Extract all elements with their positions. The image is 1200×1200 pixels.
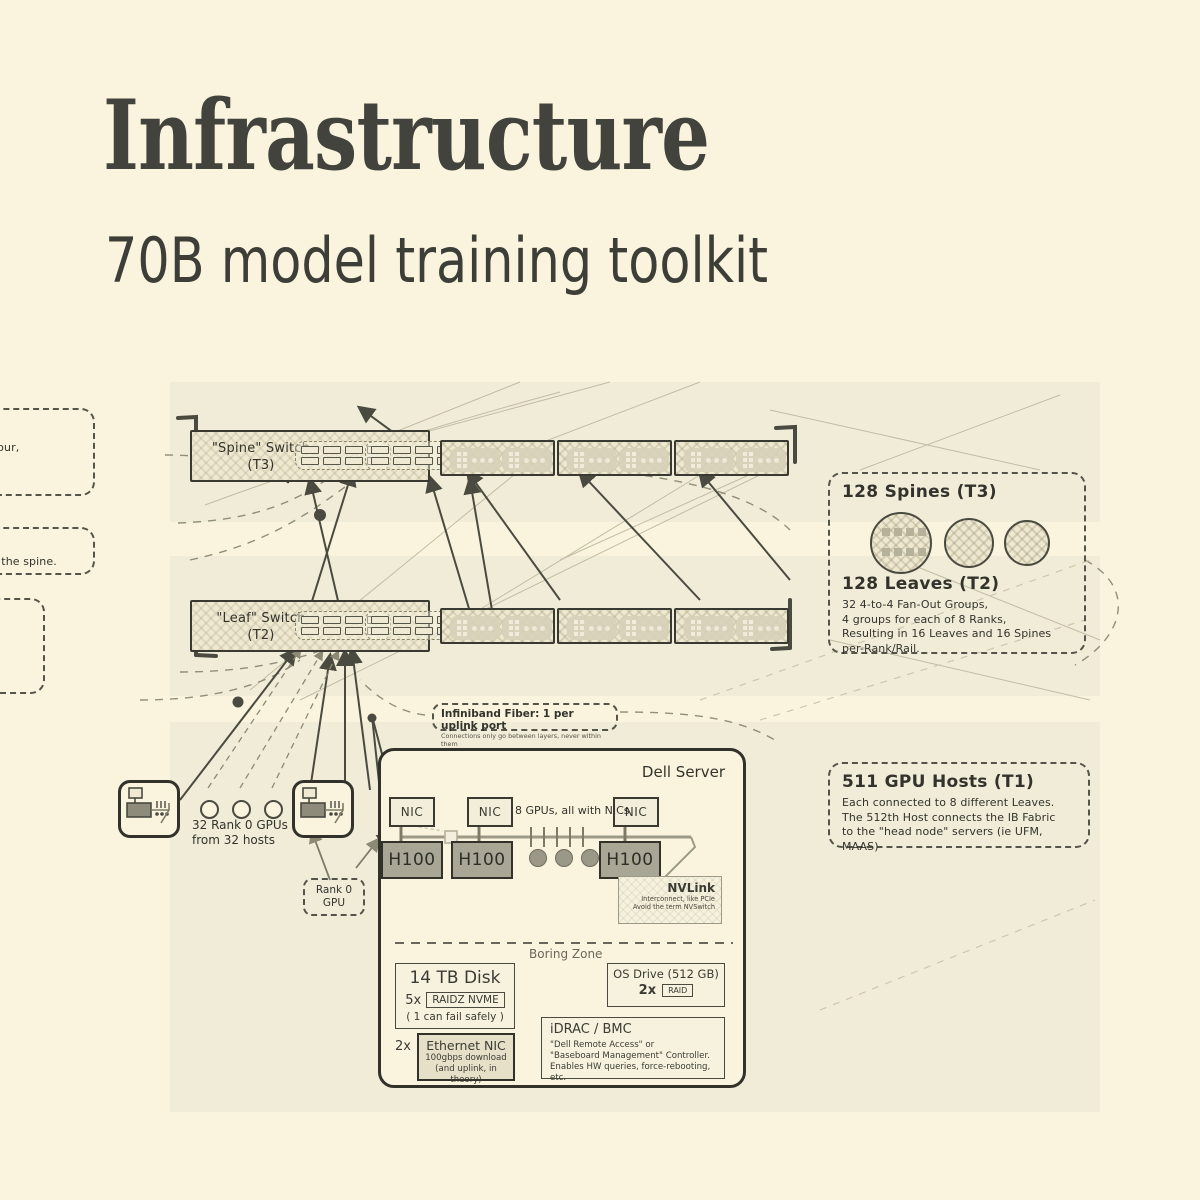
gpu-hosts-title: 511 GPU Hosts (T1)	[842, 772, 1076, 792]
junction-dot	[233, 697, 244, 708]
rank0-gpus-label: 32 Rank 0 GPUs from 32 hosts	[192, 818, 342, 848]
page-subtitle: 70B model training toolkit	[105, 228, 768, 293]
leaf-switch-4[interactable]	[674, 608, 789, 644]
idrac-line1: "Dell Remote Access" or	[550, 1040, 724, 1051]
gpu-placeholder-2	[555, 849, 573, 867]
os-drive-kind: RAID	[662, 984, 693, 997]
spine-switch-2[interactable]	[440, 440, 555, 476]
spine-switch[interactable]: "Spine" Switch (T3)	[190, 430, 430, 482]
rank0-gpu-circle-2	[232, 800, 251, 819]
ethernet-line2: (and uplink, in theory)	[419, 1064, 513, 1086]
nvlink-title: NVLink	[625, 881, 715, 895]
disk-box[interactable]: 14 TB Disk 5x RAIDZ NVME ( 1 can fail sa…	[395, 963, 515, 1029]
eight-gpus-label: 8 GPUs, all with NICs	[515, 803, 645, 818]
disk-title: 14 TB Disk	[396, 968, 514, 988]
note-spines-leaves: 128 Spines (T3) 128 Leaves (T2)	[828, 472, 1086, 654]
os-drive-box[interactable]: OS Drive (512 GB) 2x RAID	[607, 963, 725, 1007]
disk-note: ( 1 can fail safely )	[396, 1011, 514, 1024]
idrac-box[interactable]: iDRAC / BMC "Dell Remote Access" or "Bas…	[541, 1017, 725, 1079]
boring-zone-label: Boring Zone	[529, 947, 602, 961]
gpu-h100-3[interactable]: H100	[599, 841, 661, 879]
idrac-line3: Enables HW queries, force-rebooting, etc…	[550, 1062, 724, 1084]
nic-2[interactable]: NIC	[467, 797, 513, 827]
leaves-title: 128 Leaves (T2)	[842, 574, 1072, 594]
nvlink-line1: Interconnect, like PCIe	[625, 895, 715, 903]
note-clipped-middle: : ports on the spine.	[0, 527, 95, 575]
spine-switch-3[interactable]	[557, 440, 672, 476]
rank0-gpu-circle-1	[200, 800, 219, 819]
gpu-placeholder-3	[581, 849, 599, 867]
ethernet-nic-box[interactable]: Ethernet NIC 100gbps download (and uplin…	[417, 1033, 515, 1081]
spine-circle-medium	[944, 518, 994, 568]
ethernet-line1: 100gbps download	[419, 1053, 513, 1064]
host-icon-left[interactable]	[118, 780, 180, 838]
note-gpu-hosts: 511 GPU Hosts (T1) Each connected to 8 d…	[828, 762, 1090, 848]
disk-count: 5x	[405, 993, 421, 1008]
gpu-placeholder-1	[529, 849, 547, 867]
gpu-h100-1[interactable]: H100	[381, 841, 443, 879]
diagram-canvas: Infrastructure 70B model training toolki…	[0, 0, 1200, 1200]
leaf-switch-2[interactable]	[440, 608, 555, 644]
note-clipped-bottom: , T3)	[0, 598, 45, 694]
nvlink-box[interactable]: NVLink Interconnect, like PCIe Avoid the…	[618, 876, 722, 924]
page-title: Infrastructure	[103, 86, 709, 187]
spines-title: 128 Spines (T3)	[842, 482, 1072, 502]
host-glyph-icon	[121, 783, 177, 835]
spine-switch-4[interactable]	[674, 440, 789, 476]
ethernet-title: Ethernet NIC	[419, 1038, 513, 1053]
idrac-title: iDRAC / BMC	[550, 1022, 724, 1037]
gpu-h100-2[interactable]: H100	[451, 841, 513, 879]
nic-1[interactable]: NIC	[389, 797, 435, 827]
os-drive-title: OS Drive (512 GB)	[608, 967, 724, 981]
os-drive-count: 2x	[639, 983, 656, 998]
leaf-switch-3[interactable]	[557, 608, 672, 644]
note-infiniband-fiber: Infiniband Fiber: 1 per uplink port Conn…	[432, 703, 618, 731]
nvlink-line2: Avoid the term NVSwitch	[625, 903, 715, 911]
disk-kind: RAIDZ NVME	[426, 992, 505, 1008]
note-rank0-gpu: Rank 0 GPU	[303, 878, 365, 916]
spine-circle-small	[1004, 520, 1050, 566]
rank0-gpu-circle-3	[264, 800, 283, 819]
idrac-line2: "Baseboard Management" Controller.	[550, 1051, 724, 1062]
ethernet-count: 2x	[395, 1039, 411, 1054]
spine-circle-large	[870, 512, 932, 574]
note-clipped-top: ) roups of four,	[0, 408, 95, 496]
leaf-switch[interactable]: "Leaf" Switch (T2)	[190, 600, 430, 652]
